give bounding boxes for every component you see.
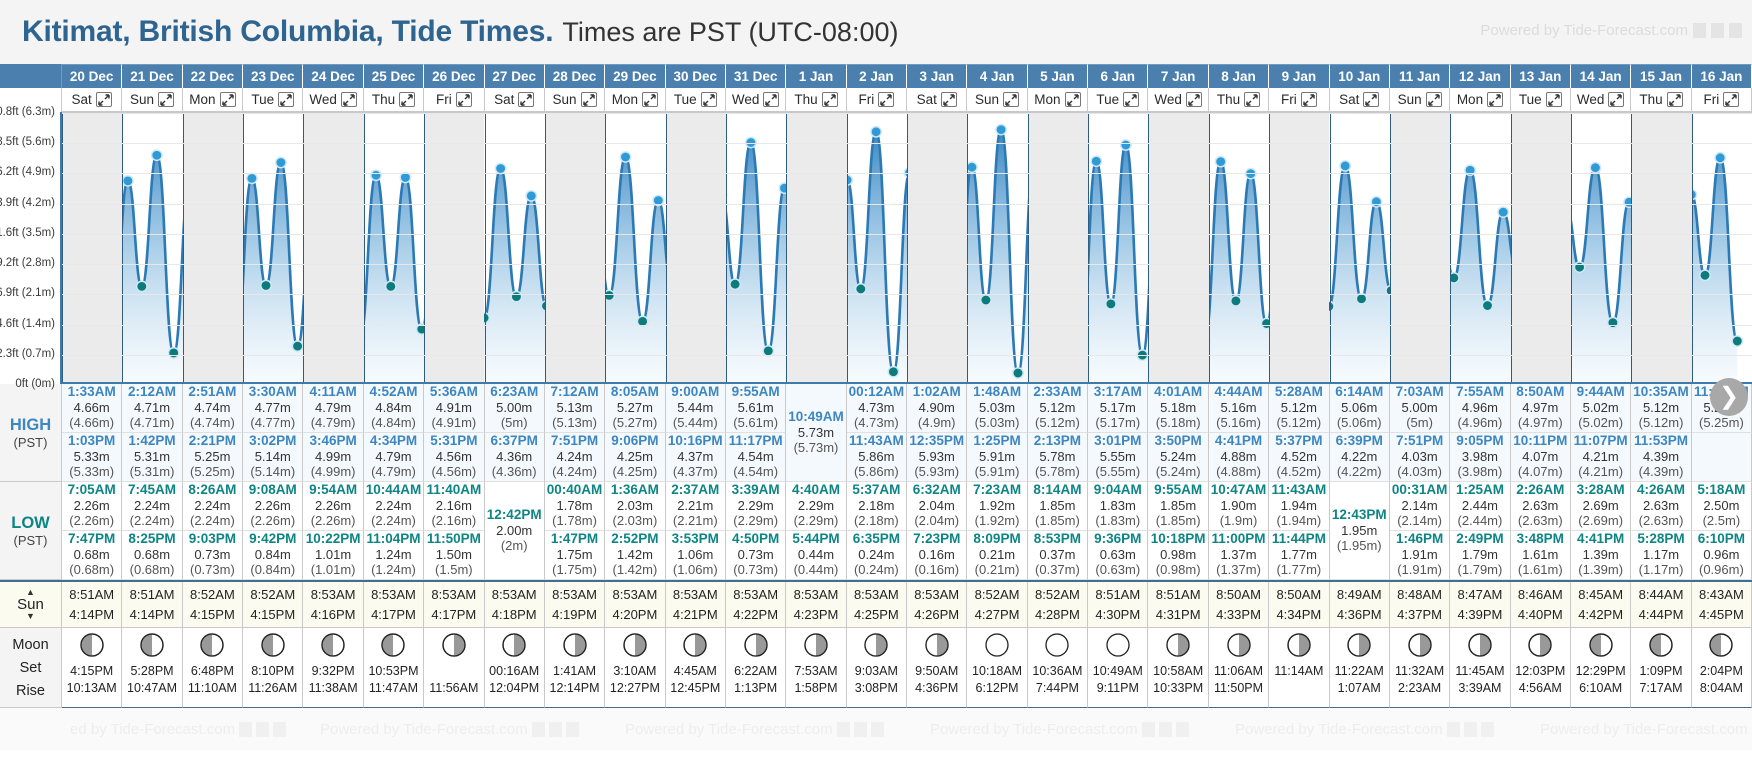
sun-cell: 8:53AM4:25PM — [847, 582, 907, 628]
expand-arrows-icon[interactable] — [642, 92, 658, 107]
expand-arrows-icon[interactable] — [158, 92, 174, 107]
day-stripe — [62, 113, 122, 382]
moonrise-time: 9:11PM — [1097, 680, 1139, 697]
high-entry: 5:28AM5.12m(5.12m) — [1269, 384, 1329, 433]
tide-height-alt: (1.17m) — [1631, 562, 1690, 577]
day-separator — [1631, 113, 1632, 384]
tide-time: 6:10PM — [1692, 531, 1751, 547]
date-header-11-jan[interactable]: 11 Jan — [1390, 64, 1450, 88]
tide-height-alt: (5.55m) — [1088, 464, 1147, 479]
tide-height-alt: (5.24m) — [1148, 464, 1207, 479]
high-entry: 1:48AM5.03m(5.03m) — [967, 384, 1027, 433]
tide-height-alt: (4.97m) — [1511, 415, 1570, 430]
date-header-23-dec[interactable]: 23 Dec — [243, 64, 303, 88]
date-header-7-jan[interactable]: 7 Jan — [1148, 64, 1208, 88]
day-of-week-text: Wed — [309, 92, 337, 107]
sunset-time: 4:16PM — [311, 605, 356, 625]
tide-height-alt: (2.63m) — [1511, 513, 1570, 528]
high-entry: 9:05PM3.98m(3.98m) — [1450, 433, 1510, 482]
sunset-time: 4:17PM — [431, 605, 476, 625]
moonset-time: 11:45AM — [1455, 663, 1504, 680]
expand-arrows-icon[interactable] — [1065, 92, 1081, 107]
grid-line — [62, 294, 1752, 295]
low-column: 9:55AM1.85m(1.85m)10:18PM0.98m(0.98m) — [1148, 482, 1208, 580]
tide-time: 5:18AM — [1692, 482, 1751, 498]
day-cell-sat: Sat — [485, 88, 545, 112]
expand-arrows-icon[interactable] — [1123, 92, 1139, 107]
date-header-29-dec[interactable]: 29 Dec — [605, 64, 665, 88]
low-column: 9:04AM1.83m(1.83m)9:36PM0.63m(0.63m) — [1088, 482, 1148, 580]
expand-arrows-icon[interactable] — [341, 92, 357, 107]
tide-height: 0.68m — [122, 547, 181, 562]
date-header-31-dec[interactable]: 31 Dec — [726, 64, 786, 88]
tide-height: 2.04m — [907, 498, 966, 513]
footer-watermark: Powered by Tide-Forecast.com — [930, 721, 1189, 738]
high-entry: 10:11PM4.07m(4.07m) — [1511, 433, 1571, 482]
low-tide-timezone: (PST) — [14, 533, 48, 548]
low-entry: 9:03PM0.73m(0.73m) — [183, 531, 243, 580]
day-cell-tue: Tue — [243, 88, 303, 112]
low-column: 4:26AM2.63m(2.63m)5:28PM1.17m(1.17m) — [1631, 482, 1691, 580]
tide-height: 4.74m — [183, 400, 242, 415]
day-of-week-text: Mon — [1034, 92, 1060, 107]
tide-time: 8:26AM — [183, 482, 242, 498]
high-entry: 4:41PM4.88m(4.88m) — [1209, 433, 1269, 482]
day-stripe — [1148, 113, 1208, 382]
day-of-week-text: Fri — [436, 92, 452, 107]
high-entry: 3:46PM4.99m(4.99m) — [303, 433, 363, 482]
high-entry: 5:37PM4.52m(4.52m) — [1269, 433, 1329, 482]
high-tide-section: HIGH (PST) 1:33AM4.66m(4.66m)1:03PM5.33m… — [0, 384, 1752, 482]
moonrise-time: 12:27PM — [610, 680, 660, 697]
expand-arrows-icon[interactable] — [1608, 92, 1624, 107]
day-cell-tue: Tue — [1511, 88, 1571, 112]
day-separator — [726, 113, 727, 384]
day-separator — [907, 113, 908, 384]
moonrise-time: 6:10AM — [1579, 680, 1622, 697]
tide-time: 10:44AM — [364, 482, 423, 498]
sun-cell: 8:53AM4:20PM — [605, 582, 665, 628]
tide-height-alt: (0.24m) — [847, 562, 906, 577]
sunrise-time: 8:53AM — [733, 585, 778, 605]
moonrise-time: 8:04AM — [1700, 680, 1743, 697]
tide-height: 4.07m — [1511, 449, 1570, 464]
sunrise-time: 8:51AM — [130, 585, 175, 605]
expand-arrows-icon[interactable] — [1003, 92, 1019, 107]
low-entry: 7:23AM1.92m(1.92m) — [967, 482, 1027, 531]
sunrise-time: 8:50AM — [1276, 585, 1321, 605]
date-header-20-dec[interactable]: 20 Dec — [62, 64, 122, 88]
grid-line — [62, 264, 1752, 265]
sunrise-time: 8:52AM — [975, 585, 1020, 605]
date-header-28-dec[interactable]: 28 Dec — [545, 64, 605, 88]
day-separator — [303, 113, 304, 384]
moon-times: 12:03PM4:56AM — [1515, 663, 1565, 697]
day-of-week-text: Thu — [794, 92, 817, 107]
tide-time: 3:28AM — [1571, 482, 1630, 498]
tide-height: 1.01m — [303, 547, 362, 562]
date-header-30-dec[interactable]: 30 Dec — [666, 64, 726, 88]
day-cell-sun: Sun — [1390, 88, 1450, 112]
high-column: 9:55AM5.61m(5.61m)11:17PM4.54m(4.54m) — [726, 384, 786, 482]
moon-phase-icon — [1467, 632, 1493, 661]
date-header-21-dec[interactable]: 21 Dec — [122, 64, 182, 88]
day-of-week-text: Sun — [1398, 92, 1422, 107]
date-header-3-jan[interactable]: 3 Jan — [907, 64, 967, 88]
expand-arrows-icon[interactable] — [220, 92, 236, 107]
date-header-6-jan[interactable]: 6 Jan — [1088, 64, 1148, 88]
y-axis-tick: 0ft (0m) — [15, 378, 55, 390]
moon-phase-icon — [1105, 632, 1131, 661]
date-header-14-jan[interactable]: 14 Jan — [1571, 64, 1631, 88]
tide-height-alt: (1.79m) — [1450, 562, 1509, 577]
tide-height-alt: (1.91m) — [1390, 562, 1449, 577]
day-separator — [485, 113, 486, 384]
tide-time: 3:01PM — [1088, 433, 1147, 449]
tide-time: 8:53PM — [1028, 531, 1087, 547]
low-entry: 4:50PM0.73m(0.73m) — [726, 531, 786, 580]
low-entry: 4:40AM2.29m(2.29m) — [786, 482, 846, 531]
tide-height-alt: (4.37m) — [666, 464, 725, 479]
high-column: 7:55AM4.96m(4.96m)9:05PM3.98m(3.98m) — [1450, 384, 1510, 482]
day-stripe — [545, 113, 605, 382]
moonrise-time: 10:33PM — [1153, 680, 1203, 697]
tide-time: 7:05AM — [62, 482, 121, 498]
tide-height: 2.24m — [122, 498, 181, 513]
moonset-time: 9:50AM — [915, 663, 958, 680]
moon-section: Moon Set Rise 4:15PM10:13AM5:28PM10:47AM… — [0, 628, 1752, 708]
tide-height: 2.18m — [847, 498, 906, 513]
high-entry: 2:13PM5.78m(5.78m) — [1028, 433, 1088, 482]
tide-height: 4.79m — [364, 449, 423, 464]
tide-height-alt: (0.68m) — [62, 562, 121, 577]
moon-cell: 2:04PM8:04AM — [1692, 628, 1752, 708]
expand-arrows-icon[interactable] — [1723, 92, 1739, 107]
moonrise-time: 7:17AM — [1639, 680, 1682, 697]
moon-phase-icon — [984, 632, 1010, 661]
expand-arrows-icon[interactable] — [1426, 92, 1442, 107]
moon-cell: 4:15PM10:13AM — [62, 628, 122, 708]
tide-time: 9:08AM — [243, 482, 302, 498]
chart-y-axis: 0ft (0m)2.3ft (0.7m)4.6ft (1.4m)6.9ft (2… — [0, 112, 62, 384]
tide-height-alt: (2.26m) — [303, 513, 362, 528]
tide-height: 2.26m — [62, 498, 121, 513]
tide-time: 9:36PM — [1088, 531, 1147, 547]
expand-arrows-icon[interactable] — [278, 92, 294, 107]
sun-cell: 8:44AM4:44PM — [1631, 582, 1691, 628]
tide-height: 2.29m — [726, 498, 785, 513]
tide-time: 9:54AM — [303, 482, 362, 498]
date-header-2-jan[interactable]: 2 Jan — [847, 64, 907, 88]
sunset-time: 4:17PM — [371, 605, 416, 625]
low-column: 5:18AM2.50m(2.5m)6:10PM0.96m(0.96m) — [1692, 482, 1752, 580]
moon-phase-icon — [1165, 632, 1191, 661]
expand-arrows-icon[interactable] — [1487, 92, 1503, 107]
day-cell-mon: Mon — [183, 88, 243, 112]
sunrise-time: 8:43AM — [1699, 585, 1744, 605]
tide-height-alt: (4.96m) — [1450, 415, 1509, 430]
date-header-9-jan[interactable]: 9 Jan — [1269, 64, 1329, 88]
sunset-time: 4:37PM — [1397, 605, 1442, 625]
date-header-10-jan[interactable]: 10 Jan — [1330, 64, 1390, 88]
tide-height: 5.61m — [726, 400, 785, 415]
day-separator — [1571, 113, 1572, 384]
expand-arrows-icon[interactable] — [701, 92, 717, 107]
sunrise-time: 8:46AM — [1518, 585, 1563, 605]
moon-phase-icon — [1044, 632, 1070, 661]
expand-arrows-icon[interactable] — [1301, 92, 1317, 107]
high-entry: 6:23AM5.00m(5m) — [485, 384, 545, 433]
header-watermark-text: Powered by Tide-Forecast.com — [1480, 22, 1688, 39]
tide-time: 12:35PM — [907, 433, 966, 449]
moon-phase-icon — [1648, 632, 1674, 661]
date-header-5-jan[interactable]: 5 Jan — [1028, 64, 1088, 88]
tide-time: 5:28PM — [1631, 531, 1690, 547]
low-column: 8:14AM1.85m(1.85m)8:53PM0.37m(0.37m) — [1028, 482, 1088, 580]
day-cell-wed: Wed — [303, 88, 363, 112]
sun-cell: 8:50AM4:33PM — [1209, 582, 1269, 628]
moonset-time: 10:36AM — [1032, 663, 1082, 680]
high-column: 6:23AM5.00m(5m)6:37PM4.36m(4.36m) — [485, 384, 545, 482]
tide-height: 0.63m — [1088, 547, 1147, 562]
expand-arrows-icon[interactable] — [941, 92, 957, 107]
tide-height: 5.14m — [243, 449, 302, 464]
tide-time: 5:28AM — [1269, 384, 1328, 400]
date-header-1-jan[interactable]: 1 Jan — [786, 64, 846, 88]
high-entry: 12:35PM5.93m(5.93m) — [907, 433, 967, 482]
high-entry: 00:12AM4.73m(4.73m) — [847, 384, 907, 433]
expand-arrows-icon[interactable] — [1546, 92, 1562, 107]
moonrise-time: 11:10AM — [188, 680, 237, 697]
tide-height-alt: (5.06m) — [1330, 415, 1389, 430]
low-entry: 3:48PM1.61m(1.61m) — [1511, 531, 1571, 580]
tide-height: 0.73m — [726, 547, 785, 562]
tide-time: 00:31AM — [1390, 482, 1449, 498]
next-period-button[interactable]: ❯ — [1710, 378, 1748, 416]
tide-height-alt: (1.9m) — [1209, 513, 1268, 528]
moon-times: 8:10PM11:26AM — [248, 663, 297, 697]
tide-height: 1.24m — [364, 547, 423, 562]
low-entry: 10:44AM2.24m(2.24m) — [364, 482, 424, 531]
tide-height-alt: (1.85m) — [1148, 513, 1207, 528]
date-header-12-jan[interactable]: 12 Jan — [1450, 64, 1510, 88]
day-cell-sat: Sat — [907, 88, 967, 112]
low-entry: 8:26AM2.24m(2.24m) — [183, 482, 243, 531]
sunset-time: 4:44PM — [1639, 605, 1684, 625]
tide-page: Kitimat, British Columbia, Tide Times. T… — [0, 0, 1752, 780]
low-entry: 3:28AM2.69m(2.69m) — [1571, 482, 1631, 531]
high-entry: 3:02PM5.14m(5.14m) — [243, 433, 303, 482]
tide-time: 7:55AM — [1450, 384, 1509, 400]
sunrise-time: 8:44AM — [1639, 585, 1684, 605]
sunrise-time: 8:53AM — [794, 585, 839, 605]
tide-height: 4.24m — [545, 449, 604, 464]
date-header-26-dec[interactable]: 26 Dec — [424, 64, 484, 88]
tide-height: 1.06m — [666, 547, 725, 562]
sunrise-time: 8:53AM — [492, 585, 537, 605]
high-column: 2:51AM4.74m(4.74m)2:21PM5.25m(5.25m) — [183, 384, 243, 482]
moonrise-time: 11:50PM — [1214, 680, 1263, 697]
tide-height-alt: (4.22m) — [1330, 464, 1389, 479]
high-entry: 8:05AM5.27m(5.27m) — [605, 384, 665, 433]
tide-height: 5.16m — [1209, 400, 1268, 415]
day-separator — [243, 113, 244, 384]
tide-height: 5.44m — [666, 400, 725, 415]
tide-time: 5:44PM — [786, 531, 845, 547]
watermark-badge-icon — [1142, 722, 1155, 737]
date-header-24-dec[interactable]: 24 Dec — [303, 64, 363, 88]
tide-height: 2.00m — [485, 523, 544, 538]
sun-cell: 8:45AM4:42PM — [1571, 582, 1631, 628]
tide-height: 4.71m — [122, 400, 181, 415]
moon-times: 6:48PM11:10AM — [188, 663, 237, 697]
day-separator — [605, 113, 606, 384]
tide-height: 1.85m — [1148, 498, 1207, 513]
low-entry: 9:42PM0.84m(0.84m) — [243, 531, 303, 580]
low-column: 10:47AM1.90m(1.9m)11:00PM1.37m(1.37m) — [1209, 482, 1269, 580]
day-cell-tue: Tue — [1088, 88, 1148, 112]
tide-height: 1.83m — [1088, 498, 1147, 513]
expand-arrows-icon[interactable] — [1667, 92, 1683, 107]
tide-height-alt: (5.33m) — [62, 464, 121, 479]
footer-watermark-text: Powered by Tide-Forecast.com — [930, 721, 1138, 738]
expand-arrows-icon[interactable] — [822, 92, 838, 107]
expand-arrows-icon[interactable] — [878, 92, 894, 107]
expand-arrows-icon[interactable] — [763, 92, 779, 107]
low-tide-label: LOW (PST) — [0, 482, 62, 580]
expand-arrows-icon[interactable] — [518, 92, 534, 107]
tide-height-alt: (0.44m) — [786, 562, 845, 577]
y-axis-tick: 4.6ft (1.4m) — [0, 318, 55, 330]
tide-height-alt: (4.73m) — [847, 415, 906, 430]
tide-height: 5.93m — [907, 449, 966, 464]
date-header-16-jan[interactable]: 16 Jan — [1692, 64, 1752, 88]
high-column: 6:14AM5.06m(5.06m)6:39PM4.22m(4.22m) — [1330, 384, 1390, 482]
tide-time: 9:05PM — [1450, 433, 1509, 449]
sun-cell: 8:53AM4:21PM — [666, 582, 726, 628]
tide-time: 8:09PM — [967, 531, 1026, 547]
moon-label: Moon Set Rise — [0, 628, 62, 708]
date-header-27-dec[interactable]: 27 Dec — [485, 64, 545, 88]
tide-time: 2:49PM — [1450, 531, 1509, 547]
date-header-13-jan[interactable]: 13 Jan — [1511, 64, 1571, 88]
moon-cell: 12:03PM4:56AM — [1511, 628, 1571, 708]
sun-cell: 8:51AM4:30PM — [1088, 582, 1148, 628]
moonset-time: 9:32PM — [312, 663, 355, 680]
day-cell-thu: Thu — [786, 88, 846, 112]
tide-height-alt: (4.52m) — [1269, 464, 1328, 479]
tide-time: 10:35AM — [1631, 384, 1690, 400]
low-entry: 9:08AM2.26m(2.26m) — [243, 482, 303, 531]
tide-height-alt: (5.78m) — [1028, 464, 1087, 479]
tide-time: 6:37PM — [485, 433, 544, 449]
tide-height-alt: (1.01m) — [303, 562, 362, 577]
tide-height-alt: (2.04m) — [907, 513, 966, 528]
tide-height: 4.22m — [1330, 449, 1389, 464]
moonrise-time: 1:07AM — [1338, 680, 1381, 697]
tide-time: 4:41PM — [1209, 433, 1268, 449]
tide-height-alt: (5.16m) — [1209, 415, 1268, 430]
sunrise-time: 8:52AM — [190, 585, 235, 605]
tide-height: 4.37m — [666, 449, 725, 464]
tide-height-alt: (1.5m) — [424, 562, 483, 577]
tide-height: 1.90m — [1209, 498, 1268, 513]
moon-times: 10:53PM11:47AM — [368, 663, 418, 697]
high-entry: 6:39PM4.22m(4.22m) — [1330, 433, 1390, 482]
tide-height-alt: (5m) — [1390, 415, 1449, 430]
expand-arrows-icon[interactable] — [456, 92, 472, 107]
low-entry: 1:36AM2.03m(2.03m) — [605, 482, 665, 531]
day-of-week-text: Tue — [674, 92, 697, 107]
high-entry: 2:21PM5.25m(5.25m) — [183, 433, 243, 482]
grid-line — [62, 143, 1752, 144]
high-entry: 8:50AM4.97m(4.97m) — [1511, 384, 1571, 433]
moonrise-time: 3:39AM — [1458, 680, 1501, 697]
tide-height: 5.55m — [1088, 449, 1147, 464]
moon-phase-icon — [260, 632, 286, 661]
low-entry: 3:39AM2.29m(2.29m) — [726, 482, 786, 531]
tide-height: 1.39m — [1571, 547, 1630, 562]
expand-arrows-icon[interactable] — [1363, 92, 1379, 107]
day-of-week-text: Sun — [130, 92, 154, 107]
tide-height-alt: (1.85m) — [1028, 513, 1087, 528]
expand-arrows-icon[interactable] — [1244, 92, 1260, 107]
tide-height: 1.95m — [1330, 523, 1389, 538]
date-header-4-jan[interactable]: 4 Jan — [967, 64, 1027, 88]
day-separator — [1511, 113, 1512, 384]
day-separator — [1209, 113, 1210, 384]
tide-time: 10:16PM — [666, 433, 725, 449]
low-column: 1:36AM2.03m(2.03m)2:52PM1.42m(1.42m) — [605, 482, 665, 580]
day-stripe — [183, 113, 243, 382]
footer-watermark-text: ed by Tide-Forecast.com — [70, 721, 235, 738]
sunrise-time: 8:53AM — [854, 585, 899, 605]
expand-arrows-icon[interactable] — [399, 92, 415, 107]
tide-time: 11:00PM — [1209, 531, 1268, 547]
low-entry: 11:00PM1.37m(1.37m) — [1209, 531, 1269, 580]
high-entry: 4:11AM4.79m(4.79m) — [303, 384, 363, 433]
tide-time: 11:43AM — [1269, 482, 1328, 498]
expand-arrows-icon[interactable] — [581, 92, 597, 107]
tide-height-alt: (2.29m) — [726, 513, 785, 528]
tide-height-alt: (1.39m) — [1571, 562, 1630, 577]
date-header-8-jan[interactable]: 8 Jan — [1209, 64, 1269, 88]
tide-height: 0.44m — [786, 547, 845, 562]
moon-cell: 6:48PM11:10AM — [183, 628, 243, 708]
sun-cell: 8:53AM4:23PM — [786, 582, 846, 628]
tide-height: 5.02m — [1571, 400, 1630, 415]
day-separator — [183, 113, 184, 384]
date-header-25-dec[interactable]: 25 Dec — [364, 64, 424, 88]
low-entry: 2:26AM2.63m(2.63m) — [1511, 482, 1571, 531]
expand-arrows-icon[interactable] — [1186, 92, 1202, 107]
expand-arrows-icon[interactable] — [96, 92, 112, 107]
day-of-week-text: Sat — [917, 92, 937, 107]
date-header-22-dec[interactable]: 22 Dec — [183, 64, 243, 88]
sunset-time: 4:33PM — [1216, 605, 1261, 625]
low-entry: 5:18AM2.50m(2.5m) — [1692, 482, 1752, 531]
sunset-time: 4:31PM — [1156, 605, 1201, 625]
day-stripe — [666, 113, 726, 382]
y-axis-tick: 9.2ft (2.8m) — [0, 257, 55, 269]
moon-phase-icon — [320, 632, 346, 661]
date-header-15-jan[interactable]: 15 Jan — [1631, 64, 1691, 88]
low-column: 12:43PM1.95m(1.95m) — [1330, 482, 1390, 580]
low-entry: 4:41PM1.39m(1.39m) — [1571, 531, 1631, 580]
tide-time: 2:21PM — [183, 433, 242, 449]
tide-height-alt: (4.03m) — [1390, 464, 1449, 479]
moon-cell: 9:03AM3:08PM — [847, 628, 907, 708]
